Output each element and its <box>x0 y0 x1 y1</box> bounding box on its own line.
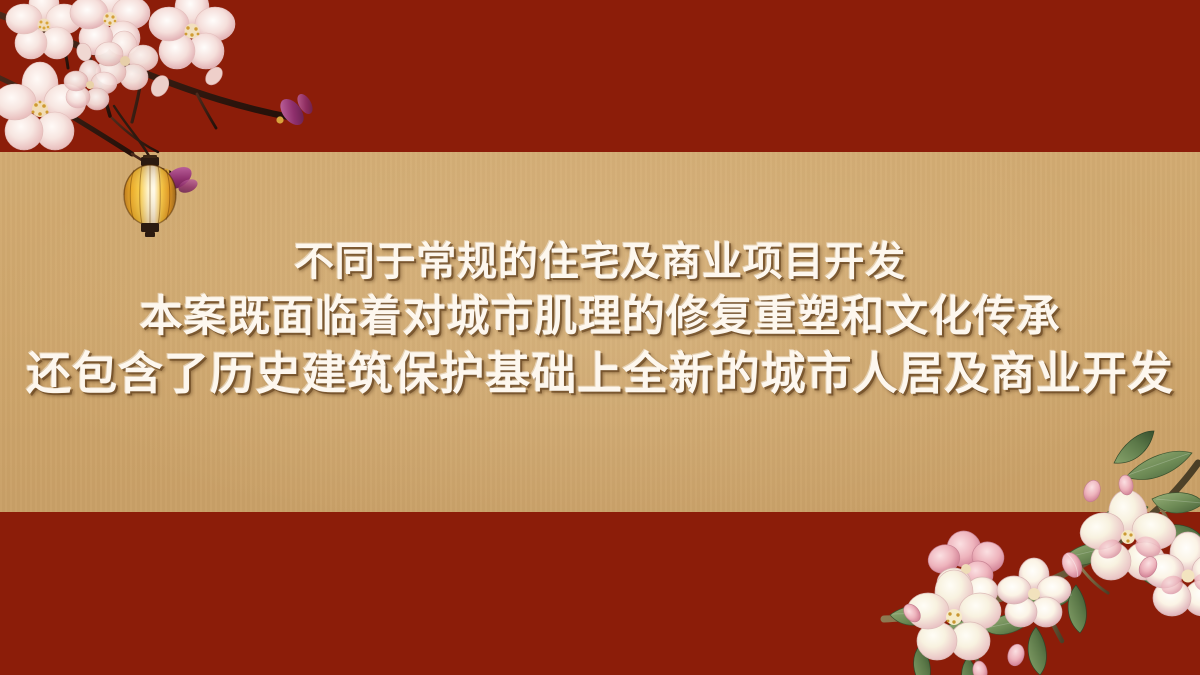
slide-canvas: 不同于常规的住宅及商业项目开发 本案既面临着对城市肌理的修复重塑和文化传承 还包… <box>0 0 1200 675</box>
headline-line-1: 不同于常规的住宅及商业项目开发 <box>0 234 1200 290</box>
headline-line-2: 本案既面临着对城市肌理的修复重塑和文化传承 <box>0 290 1200 346</box>
headline-text-block: 不同于常规的住宅及商业项目开发 本案既面临着对城市肌理的修复重塑和文化传承 还包… <box>0 234 1200 402</box>
headline-line-3: 还包含了历史建筑保护基础上全新的城市人居及商业开发 <box>0 346 1200 402</box>
top-red-band <box>0 0 1200 152</box>
bottom-red-band <box>0 512 1200 675</box>
